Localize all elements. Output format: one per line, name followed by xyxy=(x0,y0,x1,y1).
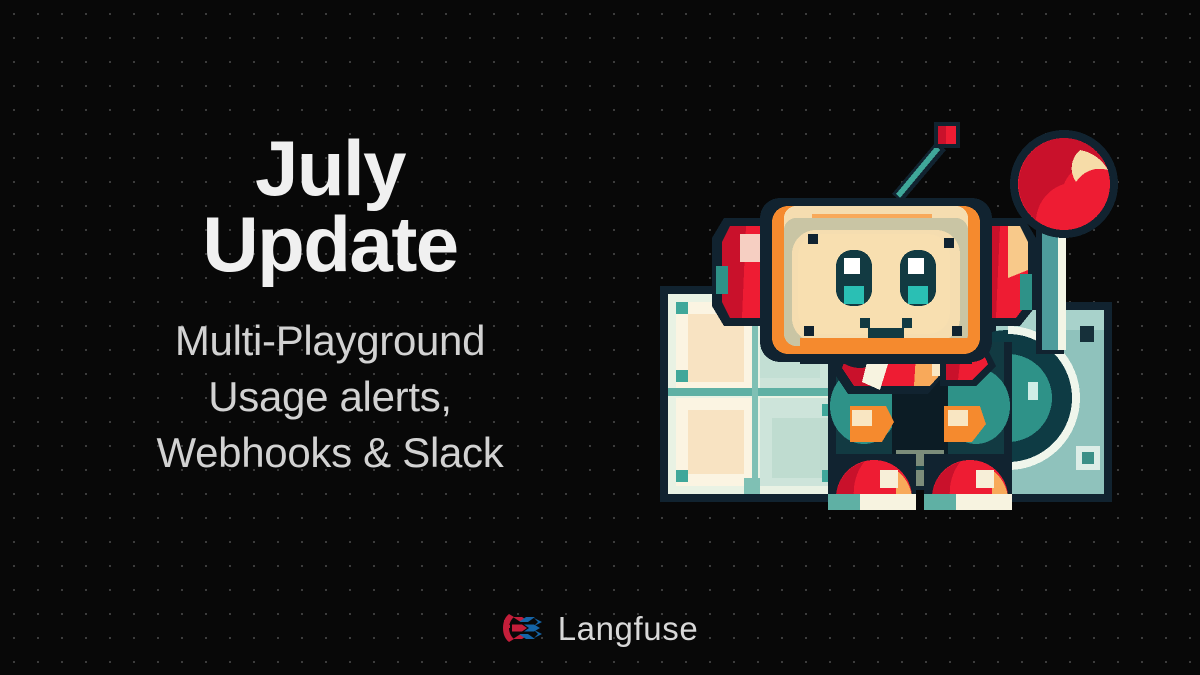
subtitle: Multi-Playground Usage alerts, Webhooks … xyxy=(60,313,600,482)
poster-canvas: July Update Multi-Playground Usage alert… xyxy=(0,0,1200,675)
antenna-icon xyxy=(892,122,960,202)
page-title: July Update xyxy=(60,130,600,283)
robot-head xyxy=(760,198,992,364)
brand-lockup: Langfuse xyxy=(0,611,1200,645)
text-column: July Update Multi-Playground Usage alert… xyxy=(60,130,600,482)
langfuse-logo-icon xyxy=(502,611,544,645)
pixel-art-robot-illustration xyxy=(636,118,1136,510)
subtitle-line-1: Multi-Playground xyxy=(60,313,600,369)
headline-line-2: Update xyxy=(60,206,600,282)
brand-wordmark: Langfuse xyxy=(558,612,699,645)
headline-line-1: July xyxy=(60,130,600,206)
subtitle-line-2: Usage alerts, xyxy=(60,369,600,425)
subtitle-line-3: Webhooks & Slack xyxy=(60,425,600,481)
